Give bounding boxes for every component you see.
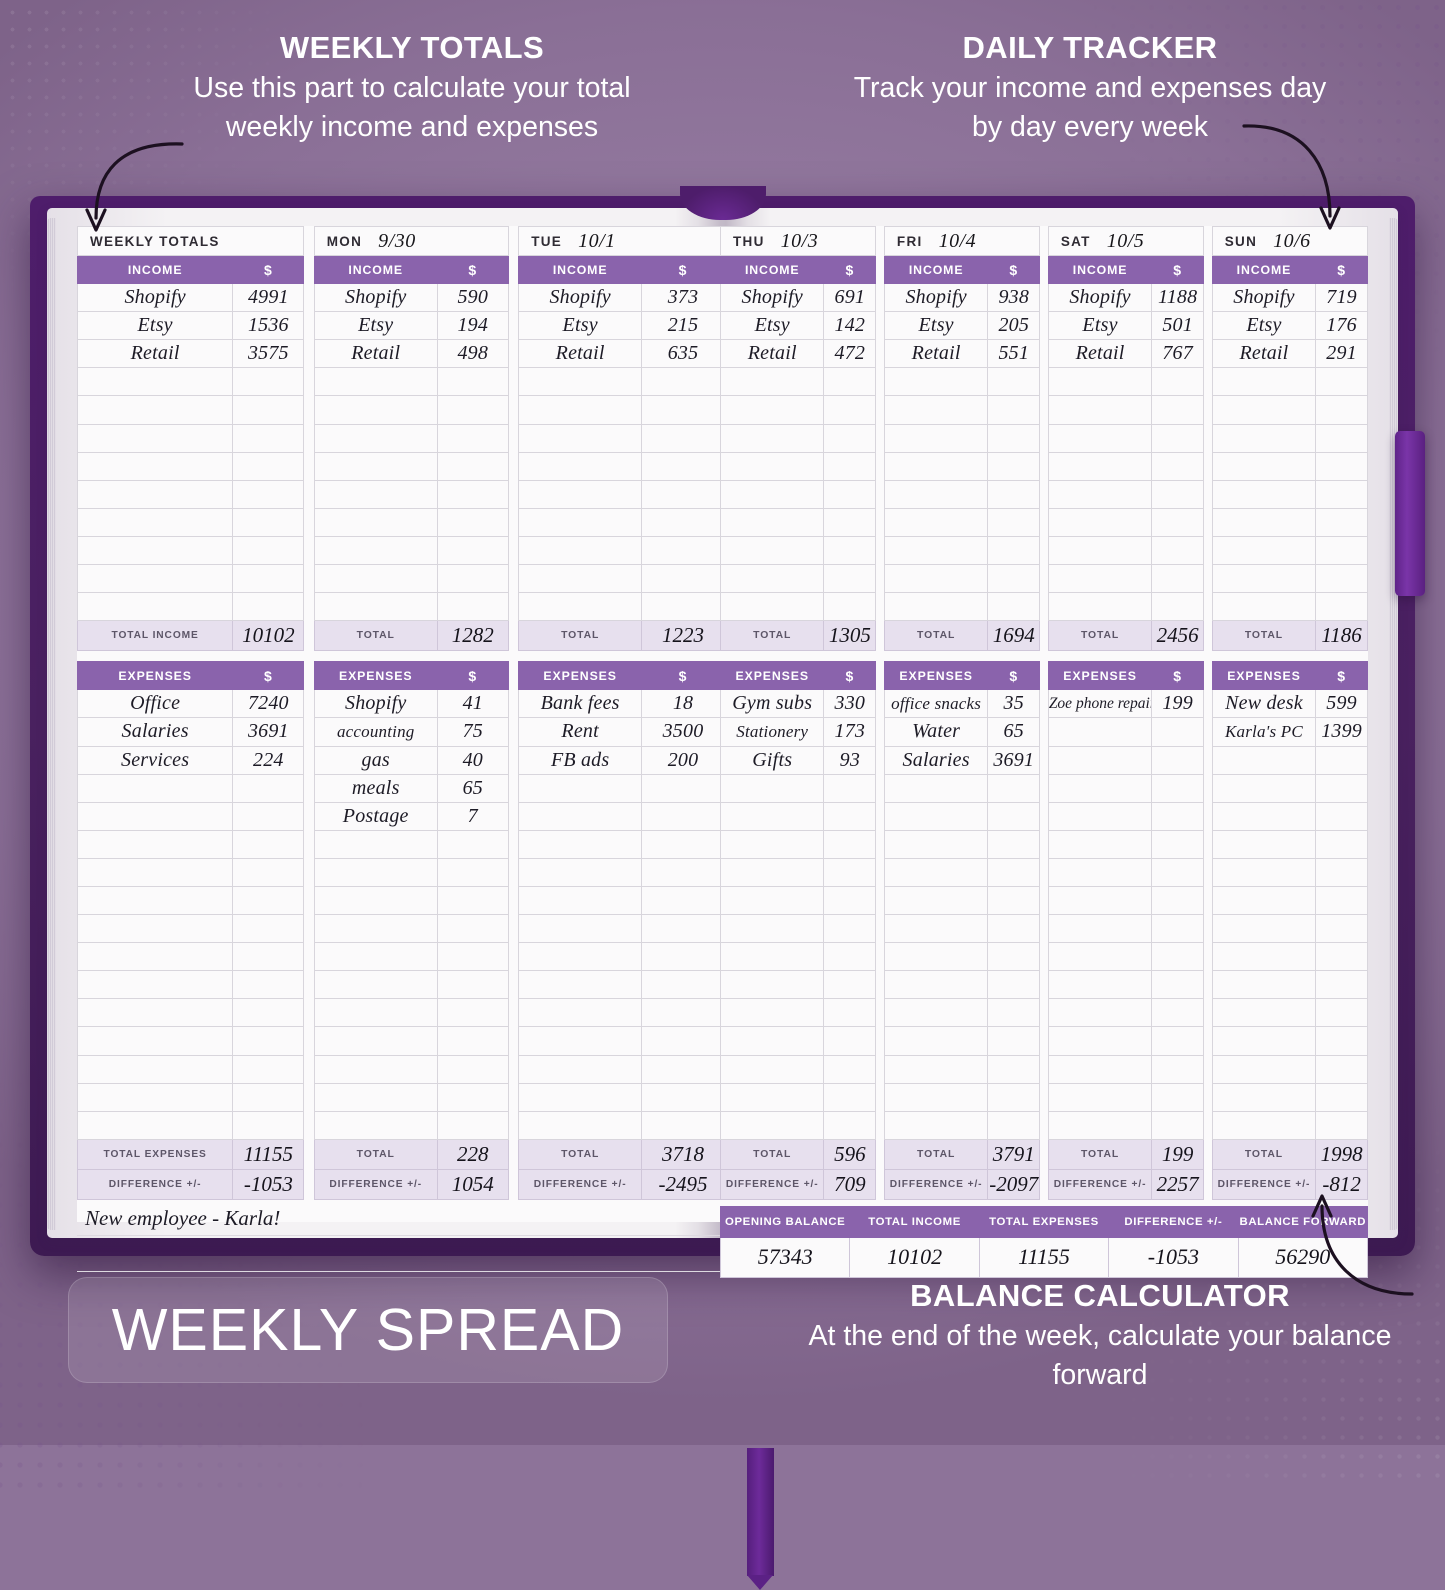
expenses-item-blank[interactable] [519, 774, 642, 802]
expenses-item-blank[interactable] [519, 1055, 642, 1083]
income-amount-blank[interactable] [824, 593, 876, 621]
expenses-amount-blank[interactable] [824, 1111, 876, 1139]
income-item-blank[interactable] [314, 565, 437, 593]
expenses-amount-blank[interactable] [1152, 915, 1204, 943]
expenses-amount-blank[interactable] [642, 915, 725, 943]
expenses-item-blank[interactable] [721, 886, 824, 914]
income-item-blank[interactable] [314, 368, 437, 396]
income-amount-blank[interactable] [1316, 368, 1368, 396]
income-amount-blank[interactable] [824, 480, 876, 508]
expenses-amount-mon-3[interactable]: 65 [437, 774, 508, 802]
expenses-amount-blank[interactable] [1316, 1055, 1368, 1083]
expenses-amount-blank[interactable] [824, 915, 876, 943]
income-amount-blank[interactable] [233, 536, 304, 564]
income-amount-weekly-totals-0[interactable]: 4991 [233, 284, 304, 312]
expenses-amount-blank[interactable] [988, 858, 1040, 886]
expenses-amount-blank[interactable] [824, 886, 876, 914]
income-amount-thu-1[interactable]: 142 [824, 312, 876, 340]
expenses-amount-blank[interactable] [1152, 886, 1204, 914]
expenses-item-blank[interactable] [78, 1055, 233, 1083]
income-amount-blank[interactable] [824, 565, 876, 593]
income-item-blank[interactable] [78, 508, 233, 536]
expenses-amount-blank[interactable] [988, 1055, 1040, 1083]
expenses-item-blank[interactable] [721, 1055, 824, 1083]
income-amount-blank[interactable] [1316, 565, 1368, 593]
expenses-item-weekly-totals-1[interactable]: Salaries [78, 718, 233, 746]
income-amount-blank[interactable] [233, 368, 304, 396]
expenses-item-blank[interactable] [314, 943, 437, 971]
expenses-item-thu-0[interactable]: Gym subs [721, 690, 824, 718]
income-item-fri-0[interactable]: Shopify [884, 284, 987, 312]
income-amount-blank[interactable] [1152, 593, 1204, 621]
income-amount-blank[interactable] [233, 480, 304, 508]
expenses-item-mon-4[interactable]: Postage [314, 802, 437, 830]
expenses-amount-blank[interactable] [437, 971, 508, 999]
expenses-item-blank[interactable] [314, 1027, 437, 1055]
expenses-item-blank[interactable] [721, 943, 824, 971]
income-total-value-fri[interactable]: 1694 [988, 621, 1040, 651]
expenses-amount-blank[interactable] [233, 915, 304, 943]
income-item-blank[interactable] [884, 508, 987, 536]
expenses-amount-blank[interactable] [1152, 1111, 1204, 1139]
expenses-amount-blank[interactable] [824, 1027, 876, 1055]
expenses-item-fri-1[interactable]: Water [884, 718, 987, 746]
expenses-item-blank[interactable] [78, 774, 233, 802]
expenses-amount-blank[interactable] [988, 1027, 1040, 1055]
expenses-amount-fri-2[interactable]: 3691 [988, 746, 1040, 774]
expenses-item-blank[interactable] [1212, 858, 1315, 886]
income-item-blank[interactable] [884, 396, 987, 424]
expenses-amount-fri-1[interactable]: 65 [988, 718, 1040, 746]
difference-value-fri[interactable]: -2097 [988, 1169, 1040, 1199]
day-date-thu[interactable]: 10/3 [781, 230, 819, 252]
income-item-blank[interactable] [884, 424, 987, 452]
expenses-item-blank[interactable] [1212, 774, 1315, 802]
expenses-amount-blank[interactable] [1316, 971, 1368, 999]
income-item-sun-2[interactable]: Retail [1212, 340, 1315, 368]
expenses-item-blank[interactable] [721, 858, 824, 886]
expenses-amount-blank[interactable] [233, 774, 304, 802]
balance-value-1[interactable]: 10102 [850, 1237, 979, 1277]
income-amount-blank[interactable] [642, 565, 725, 593]
income-item-blank[interactable] [721, 396, 824, 424]
income-amount-blank[interactable] [233, 508, 304, 536]
expenses-amount-blank[interactable] [988, 830, 1040, 858]
income-item-blank[interactable] [519, 536, 642, 564]
income-item-weekly-totals-2[interactable]: Retail [78, 340, 233, 368]
expenses-amount-blank[interactable] [824, 943, 876, 971]
expenses-item-blank[interactable] [519, 1027, 642, 1055]
income-amount-blank[interactable] [642, 536, 725, 564]
income-amount-mon-1[interactable]: 194 [437, 312, 508, 340]
income-amount-blank[interactable] [642, 593, 725, 621]
income-amount-blank[interactable] [1316, 396, 1368, 424]
expenses-item-blank[interactable] [78, 999, 233, 1027]
expenses-amount-blank[interactable] [233, 886, 304, 914]
income-amount-sun-1[interactable]: 176 [1316, 312, 1368, 340]
income-item-blank[interactable] [78, 536, 233, 564]
expenses-item-blank[interactable] [884, 802, 987, 830]
income-amount-blank[interactable] [1316, 536, 1368, 564]
expenses-amount-blank[interactable] [1316, 1083, 1368, 1111]
expenses-item-blank[interactable] [721, 774, 824, 802]
income-amount-blank[interactable] [233, 452, 304, 480]
expenses-item-blank[interactable] [1048, 886, 1151, 914]
expenses-item-blank[interactable] [1048, 1111, 1151, 1139]
expenses-item-blank[interactable] [721, 971, 824, 999]
expenses-amount-weekly-totals-0[interactable]: 7240 [233, 690, 304, 718]
expenses-item-blank[interactable] [78, 1027, 233, 1055]
expenses-amount-blank[interactable] [1152, 1055, 1204, 1083]
expenses-amount-blank[interactable] [824, 830, 876, 858]
expenses-item-blank[interactable] [721, 802, 824, 830]
income-item-blank[interactable] [1212, 424, 1315, 452]
income-amount-tue-2[interactable]: 635 [642, 340, 725, 368]
income-amount-blank[interactable] [1316, 452, 1368, 480]
expenses-item-blank[interactable] [1048, 1055, 1151, 1083]
expenses-amount-blank[interactable] [988, 774, 1040, 802]
expenses-item-blank[interactable] [884, 1083, 987, 1111]
expenses-item-fri-0[interactable]: office snacks [884, 690, 987, 718]
expenses-item-thu-1[interactable]: Stationery [721, 718, 824, 746]
expenses-amount-tue-0[interactable]: 18 [642, 690, 725, 718]
expenses-item-weekly-totals-0[interactable]: Office [78, 690, 233, 718]
difference-value-sat[interactable]: 2257 [1152, 1169, 1204, 1199]
income-amount-fri-1[interactable]: 205 [988, 312, 1040, 340]
expenses-item-blank[interactable] [314, 858, 437, 886]
expenses-amount-blank[interactable] [437, 1027, 508, 1055]
expenses-amount-blank[interactable] [233, 971, 304, 999]
income-amount-blank[interactable] [988, 396, 1040, 424]
expenses-item-blank[interactable] [519, 1083, 642, 1111]
income-amount-blank[interactable] [988, 452, 1040, 480]
expenses-amount-blank[interactable] [642, 943, 725, 971]
income-item-sat-0[interactable]: Shopify [1048, 284, 1151, 312]
expenses-amount-blank[interactable] [1316, 886, 1368, 914]
expenses-item-blank[interactable] [1212, 1027, 1315, 1055]
expenses-item-blank[interactable] [1048, 1083, 1151, 1111]
expenses-amount-blank[interactable] [642, 858, 725, 886]
income-item-blank[interactable] [1212, 536, 1315, 564]
difference-value-thu[interactable]: 709 [824, 1169, 876, 1199]
income-item-blank[interactable] [78, 565, 233, 593]
expenses-amount-blank[interactable] [642, 774, 725, 802]
income-item-blank[interactable] [519, 565, 642, 593]
expenses-amount-blank[interactable] [988, 1083, 1040, 1111]
income-item-blank[interactable] [884, 452, 987, 480]
expenses-amount-blank[interactable] [824, 774, 876, 802]
expenses-item-tue-1[interactable]: Rent [519, 718, 642, 746]
income-amount-tue-1[interactable]: 215 [642, 312, 725, 340]
expenses-amount-blank[interactable] [824, 971, 876, 999]
expenses-amount-sun-1[interactable]: 1399 [1316, 718, 1368, 746]
income-item-blank[interactable] [884, 593, 987, 621]
income-amount-blank[interactable] [824, 452, 876, 480]
income-item-blank[interactable] [1212, 565, 1315, 593]
income-amount-blank[interactable] [1316, 480, 1368, 508]
income-item-blank[interactable] [519, 424, 642, 452]
income-amount-blank[interactable] [1152, 536, 1204, 564]
income-amount-blank[interactable] [642, 424, 725, 452]
expenses-amount-blank[interactable] [824, 1083, 876, 1111]
income-item-tue-0[interactable]: Shopify [519, 284, 642, 312]
expenses-item-blank[interactable] [1212, 943, 1315, 971]
expenses-amount-blank[interactable] [1152, 830, 1204, 858]
expenses-amount-thu-0[interactable]: 330 [824, 690, 876, 718]
expenses-item-blank[interactable] [1212, 830, 1315, 858]
notes-area[interactable]: New employee - Karla! [77, 1200, 725, 1272]
expenses-amount-blank[interactable] [988, 802, 1040, 830]
expenses-item-blank[interactable] [884, 1027, 987, 1055]
income-amount-blank[interactable] [642, 452, 725, 480]
expenses-amount-blank[interactable] [1152, 999, 1204, 1027]
expenses-amount-tue-2[interactable]: 200 [642, 746, 725, 774]
income-amount-blank[interactable] [437, 593, 508, 621]
income-item-weekly-totals-1[interactable]: Etsy [78, 312, 233, 340]
difference-value-mon[interactable]: 1054 [437, 1169, 508, 1199]
income-item-blank[interactable] [721, 368, 824, 396]
income-item-blank[interactable] [721, 565, 824, 593]
expenses-amount-blank[interactable] [1316, 830, 1368, 858]
expenses-item-blank[interactable] [721, 1083, 824, 1111]
expenses-item-blank[interactable] [884, 774, 987, 802]
expenses-item-blank[interactable] [884, 1111, 987, 1139]
expenses-item-weekly-totals-2[interactable]: Services [78, 746, 233, 774]
expenses-item-blank[interactable] [519, 943, 642, 971]
expenses-item-blank[interactable] [884, 886, 987, 914]
income-amount-tue-0[interactable]: 373 [642, 284, 725, 312]
expenses-item-blank[interactable] [1048, 802, 1151, 830]
expenses-amount-mon-0[interactable]: 41 [437, 690, 508, 718]
expenses-amount-blank[interactable] [1152, 858, 1204, 886]
day-date-tue[interactable]: 10/1 [578, 230, 616, 252]
expenses-amount-blank[interactable] [233, 1027, 304, 1055]
expenses-item-blank[interactable] [78, 971, 233, 999]
day-date-fri[interactable]: 10/4 [939, 230, 977, 252]
income-item-blank[interactable] [1048, 424, 1151, 452]
income-item-thu-1[interactable]: Etsy [721, 312, 824, 340]
income-amount-blank[interactable] [988, 593, 1040, 621]
income-item-blank[interactable] [314, 424, 437, 452]
expenses-amount-blank[interactable] [437, 858, 508, 886]
income-amount-mon-2[interactable]: 498 [437, 340, 508, 368]
expenses-item-blank[interactable] [1212, 886, 1315, 914]
income-item-blank[interactable] [519, 480, 642, 508]
expenses-amount-blank[interactable] [642, 886, 725, 914]
expenses-amount-blank[interactable] [233, 999, 304, 1027]
expenses-item-blank[interactable] [78, 943, 233, 971]
income-item-blank[interactable] [519, 508, 642, 536]
expenses-total-value-thu[interactable]: 596 [824, 1139, 876, 1169]
expenses-amount-blank[interactable] [437, 886, 508, 914]
income-total-value-mon[interactable]: 1282 [437, 621, 508, 651]
income-item-blank[interactable] [519, 593, 642, 621]
expenses-amount-blank[interactable] [824, 1055, 876, 1083]
expenses-amount-blank[interactable] [1152, 943, 1204, 971]
expenses-item-mon-3[interactable]: meals [314, 774, 437, 802]
expenses-item-blank[interactable] [1048, 746, 1151, 774]
expenses-item-blank[interactable] [314, 1055, 437, 1083]
income-amount-blank[interactable] [437, 508, 508, 536]
income-amount-blank[interactable] [233, 396, 304, 424]
income-amount-blank[interactable] [437, 424, 508, 452]
expenses-item-blank[interactable] [884, 830, 987, 858]
income-amount-blank[interactable] [233, 424, 304, 452]
income-item-blank[interactable] [1048, 396, 1151, 424]
expenses-item-blank[interactable] [1048, 858, 1151, 886]
balance-value-2[interactable]: 11155 [979, 1237, 1108, 1277]
income-amount-weekly-totals-2[interactable]: 3575 [233, 340, 304, 368]
income-amount-blank[interactable] [824, 368, 876, 396]
expenses-total-value-mon[interactable]: 228 [437, 1139, 508, 1169]
income-item-blank[interactable] [721, 593, 824, 621]
income-item-thu-2[interactable]: Retail [721, 340, 824, 368]
income-item-blank[interactable] [721, 536, 824, 564]
expenses-item-fri-2[interactable]: Salaries [884, 746, 987, 774]
expenses-amount-thu-1[interactable]: 173 [824, 718, 876, 746]
note-line-1[interactable]: New employee - Karla! [77, 1200, 725, 1236]
expenses-item-blank[interactable] [314, 1083, 437, 1111]
income-amount-sat-0[interactable]: 1188 [1152, 284, 1204, 312]
expenses-amount-blank[interactable] [988, 999, 1040, 1027]
income-amount-fri-0[interactable]: 938 [988, 284, 1040, 312]
expenses-amount-mon-4[interactable]: 7 [437, 802, 508, 830]
expenses-amount-blank[interactable] [1316, 915, 1368, 943]
expenses-item-blank[interactable] [1212, 802, 1315, 830]
income-item-blank[interactable] [314, 396, 437, 424]
expenses-item-blank[interactable] [884, 999, 987, 1027]
expenses-amount-blank[interactable] [1152, 1027, 1204, 1055]
income-amount-blank[interactable] [988, 536, 1040, 564]
expenses-amount-blank[interactable] [233, 943, 304, 971]
expenses-total-value-fri[interactable]: 3791 [988, 1139, 1040, 1169]
expenses-amount-blank[interactable] [233, 1111, 304, 1139]
expenses-amount-blank[interactable] [824, 858, 876, 886]
expenses-item-blank[interactable] [519, 802, 642, 830]
day-date-sat[interactable]: 10/5 [1107, 230, 1145, 252]
expenses-item-blank[interactable] [884, 971, 987, 999]
expenses-item-blank[interactable] [78, 830, 233, 858]
income-item-blank[interactable] [314, 536, 437, 564]
income-item-blank[interactable] [884, 480, 987, 508]
expenses-amount-blank[interactable] [988, 943, 1040, 971]
expenses-item-blank[interactable] [1212, 746, 1315, 774]
income-amount-blank[interactable] [642, 368, 725, 396]
expenses-item-blank[interactable] [519, 858, 642, 886]
income-amount-weekly-totals-1[interactable]: 1536 [233, 312, 304, 340]
expenses-amount-blank[interactable] [437, 999, 508, 1027]
expenses-amount-blank[interactable] [824, 999, 876, 1027]
expenses-item-blank[interactable] [519, 1111, 642, 1139]
income-amount-blank[interactable] [642, 396, 725, 424]
income-item-fri-2[interactable]: Retail [884, 340, 987, 368]
income-total-value-sun[interactable]: 1186 [1316, 621, 1368, 651]
expenses-amount-thu-2[interactable]: 93 [824, 746, 876, 774]
income-item-blank[interactable] [1212, 508, 1315, 536]
income-total-value-weekly-totals[interactable]: 10102 [233, 621, 304, 651]
income-item-fri-1[interactable]: Etsy [884, 312, 987, 340]
expenses-amount-blank[interactable] [1152, 718, 1204, 746]
expenses-item-blank[interactable] [721, 830, 824, 858]
expenses-total-value-sat[interactable]: 199 [1152, 1139, 1204, 1169]
income-item-sat-2[interactable]: Retail [1048, 340, 1151, 368]
income-amount-blank[interactable] [1152, 480, 1204, 508]
expenses-item-blank[interactable] [78, 1083, 233, 1111]
income-item-blank[interactable] [1048, 536, 1151, 564]
income-item-mon-0[interactable]: Shopify [314, 284, 437, 312]
expenses-amount-blank[interactable] [233, 858, 304, 886]
income-item-thu-0[interactable]: Shopify [721, 284, 824, 312]
expenses-item-blank[interactable] [78, 802, 233, 830]
expenses-item-blank[interactable] [884, 1055, 987, 1083]
expenses-item-blank[interactable] [1212, 1055, 1315, 1083]
income-amount-blank[interactable] [1316, 593, 1368, 621]
expenses-amount-blank[interactable] [1316, 1027, 1368, 1055]
expenses-amount-blank[interactable] [642, 802, 725, 830]
income-item-blank[interactable] [721, 452, 824, 480]
expenses-amount-sat-0[interactable]: 199 [1152, 690, 1204, 718]
income-amount-blank[interactable] [233, 593, 304, 621]
expenses-item-blank[interactable] [1212, 1083, 1315, 1111]
difference-value-tue[interactable]: -2495 [642, 1169, 725, 1199]
income-item-weekly-totals-0[interactable]: Shopify [78, 284, 233, 312]
expenses-item-mon-2[interactable]: gas [314, 746, 437, 774]
expenses-amount-blank[interactable] [437, 915, 508, 943]
income-total-value-thu[interactable]: 1305 [824, 621, 876, 651]
expenses-amount-weekly-totals-1[interactable]: 3691 [233, 718, 304, 746]
expenses-amount-blank[interactable] [642, 971, 725, 999]
expenses-total-value-sun[interactable]: 1998 [1316, 1139, 1368, 1169]
income-amount-blank[interactable] [1152, 508, 1204, 536]
expenses-item-blank[interactable] [1212, 915, 1315, 943]
income-item-blank[interactable] [721, 480, 824, 508]
expenses-item-blank[interactable] [721, 915, 824, 943]
income-item-blank[interactable] [314, 508, 437, 536]
income-item-sat-1[interactable]: Etsy [1048, 312, 1151, 340]
income-item-blank[interactable] [1212, 480, 1315, 508]
income-total-value-sat[interactable]: 2456 [1152, 621, 1204, 651]
income-amount-blank[interactable] [1316, 508, 1368, 536]
income-item-tue-2[interactable]: Retail [519, 340, 642, 368]
expenses-item-blank[interactable] [1212, 999, 1315, 1027]
expenses-amount-blank[interactable] [437, 1055, 508, 1083]
expenses-amount-blank[interactable] [988, 886, 1040, 914]
expenses-item-blank[interactable] [519, 999, 642, 1027]
income-amount-blank[interactable] [988, 424, 1040, 452]
expenses-item-blank[interactable] [1048, 718, 1151, 746]
expenses-amount-blank[interactable] [1152, 774, 1204, 802]
expenses-amount-blank[interactable] [437, 1111, 508, 1139]
income-amount-sun-2[interactable]: 291 [1316, 340, 1368, 368]
expenses-item-sun-1[interactable]: Karla's PC [1212, 718, 1315, 746]
expenses-amount-blank[interactable] [233, 830, 304, 858]
expenses-amount-blank[interactable] [1316, 746, 1368, 774]
income-amount-sat-1[interactable]: 501 [1152, 312, 1204, 340]
balance-value-0[interactable]: 57343 [721, 1237, 850, 1277]
income-item-blank[interactable] [78, 480, 233, 508]
income-amount-mon-0[interactable]: 590 [437, 284, 508, 312]
expenses-amount-blank[interactable] [437, 1083, 508, 1111]
income-amount-blank[interactable] [437, 396, 508, 424]
income-item-blank[interactable] [314, 593, 437, 621]
day-date-mon[interactable]: 9/30 [378, 230, 416, 252]
expenses-amount-tue-1[interactable]: 3500 [642, 718, 725, 746]
income-amount-blank[interactable] [437, 480, 508, 508]
income-amount-blank[interactable] [1152, 565, 1204, 593]
expenses-item-blank[interactable] [721, 1111, 824, 1139]
income-amount-sun-0[interactable]: 719 [1316, 284, 1368, 312]
expenses-item-blank[interactable] [1048, 1027, 1151, 1055]
